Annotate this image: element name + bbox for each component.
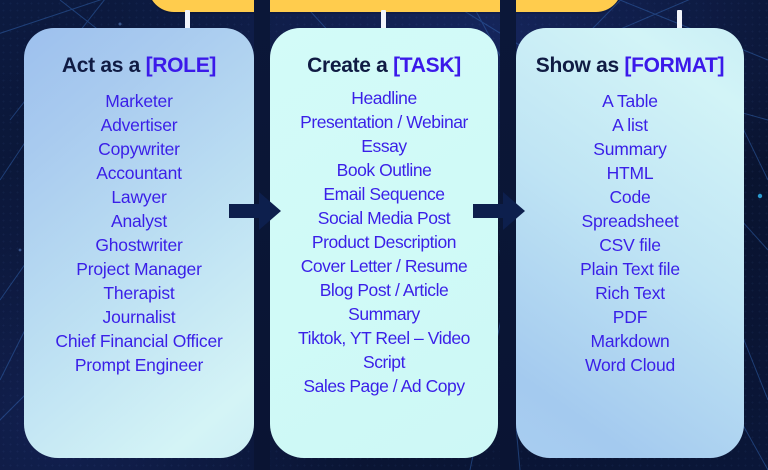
card-format-list: A Table A list Summary HTML Code Spreads…	[524, 90, 736, 378]
arrow-role-to-task-icon	[229, 192, 281, 230]
list-item[interactable]: Plain Text file	[524, 258, 736, 282]
list-item[interactable]: CSV file	[524, 234, 736, 258]
list-item[interactable]: Copywriter	[32, 138, 246, 162]
card-role-list: Marketer Advertiser Copywriter Accountan…	[32, 90, 246, 378]
list-item[interactable]: A Table	[524, 90, 736, 114]
list-item[interactable]: Marketer	[32, 90, 246, 114]
card-gap-right	[500, 0, 516, 470]
list-item[interactable]: Cover Letter / Resume	[278, 255, 490, 279]
list-item[interactable]: Journalist	[32, 306, 246, 330]
list-item[interactable]: Lawyer	[32, 186, 246, 210]
list-item[interactable]: PDF	[524, 306, 736, 330]
list-item[interactable]: Social Media Post	[278, 207, 490, 231]
list-item[interactable]: Therapist	[32, 282, 246, 306]
list-item[interactable]: Spreadsheet	[524, 210, 736, 234]
list-item[interactable]: Project Manager	[32, 258, 246, 282]
list-item[interactable]: A list	[524, 114, 736, 138]
list-item[interactable]: Presentation / Webinar	[278, 111, 490, 135]
list-item[interactable]: Markdown	[524, 330, 736, 354]
list-item[interactable]: Code	[524, 186, 736, 210]
list-item[interactable]: Product Description	[278, 231, 490, 255]
list-item[interactable]: Chief Financial Officer	[32, 330, 246, 354]
card-task-list: Headline Presentation / Webinar Essay Bo…	[278, 87, 490, 399]
list-item[interactable]: Tiktok, YT Reel – Video	[278, 327, 490, 351]
card-task-title: Create a [TASK]	[278, 55, 490, 76]
list-item[interactable]: Accountant	[32, 162, 246, 186]
list-item[interactable]: Ghostwriter	[32, 234, 246, 258]
list-item[interactable]: HTML	[524, 162, 736, 186]
list-item[interactable]: Essay	[278, 135, 490, 159]
card-task-title-token: [TASK]	[393, 54, 461, 77]
list-item[interactable]: Sales Page / Ad Copy	[278, 375, 490, 399]
card-task-title-prefix: Create a	[307, 54, 393, 77]
list-item[interactable]: Summary	[524, 138, 736, 162]
list-item[interactable]: Email Sequence	[278, 183, 490, 207]
card-role-title-token: [ROLE]	[146, 54, 217, 77]
list-item[interactable]: Book Outline	[278, 159, 490, 183]
list-item[interactable]: Script	[278, 351, 490, 375]
infographic-canvas: Act as a [ROLE] Marketer Advertiser Copy…	[0, 0, 768, 470]
card-task[interactable]: Create a [TASK] Headline Presentation / …	[270, 28, 498, 458]
card-role-title: Act as a [ROLE]	[32, 55, 246, 76]
list-item[interactable]: Advertiser	[32, 114, 246, 138]
list-item[interactable]: Analyst	[32, 210, 246, 234]
list-item[interactable]: Prompt Engineer	[32, 354, 246, 378]
card-format-title-prefix: Show as	[536, 54, 625, 77]
card-gap-left	[254, 0, 270, 470]
list-item[interactable]: Headline	[278, 87, 490, 111]
card-format-title: Show as [FORMAT]	[524, 55, 736, 76]
card-format-title-token: [FORMAT]	[624, 54, 724, 77]
list-item[interactable]: Rich Text	[524, 282, 736, 306]
arrow-task-to-format-icon	[473, 192, 525, 230]
list-item[interactable]: Summary	[278, 303, 490, 327]
card-role-title-prefix: Act as a	[62, 54, 146, 77]
list-item[interactable]: Word Cloud	[524, 354, 736, 378]
card-role[interactable]: Act as a [ROLE] Marketer Advertiser Copy…	[24, 28, 254, 458]
list-item[interactable]: Blog Post / Article	[278, 279, 490, 303]
card-format[interactable]: Show as [FORMAT] A Table A list Summary …	[516, 28, 744, 458]
